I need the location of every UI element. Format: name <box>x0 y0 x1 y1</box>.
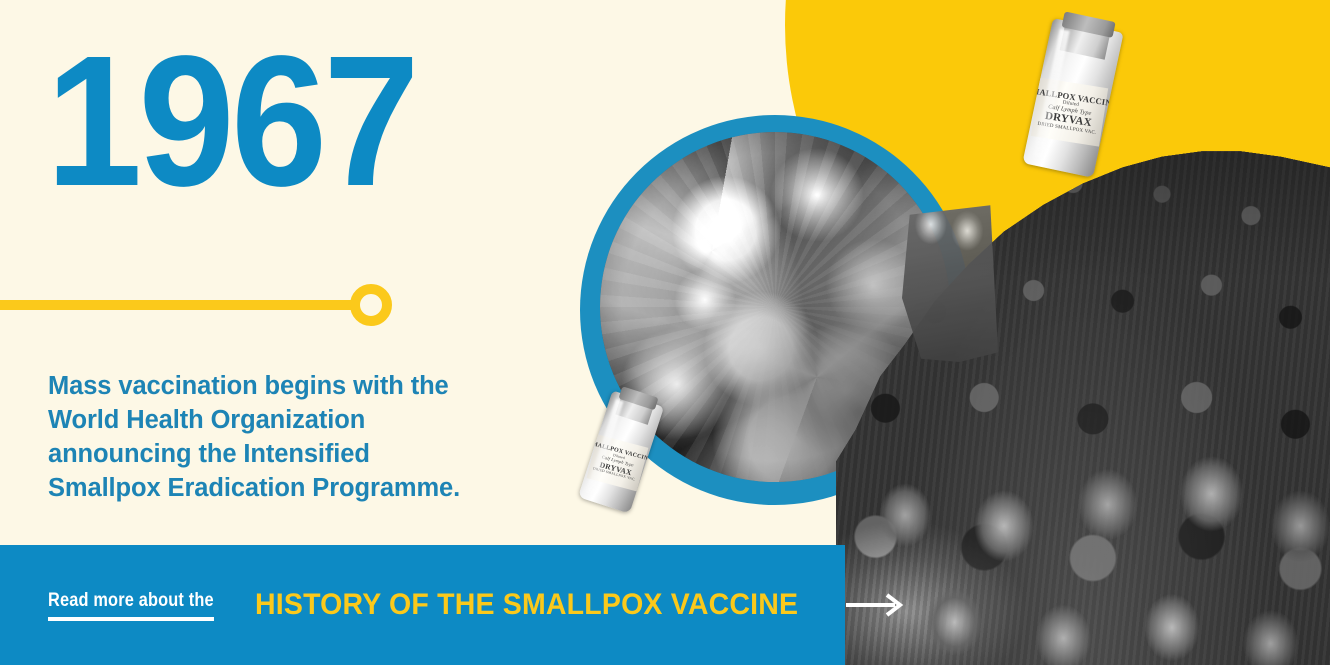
cta-main-label: HISTORY OF THE SMALLPOX VACCINE <box>255 588 798 622</box>
timeline-line <box>0 300 352 310</box>
arrow-right-icon <box>845 592 907 618</box>
timeline-graphic <box>0 294 400 314</box>
history-of-smallpox-vaccine-link[interactable]: Read more about the HISTORY OF THE SMALL… <box>48 588 907 622</box>
banner-1967: SMALLPOX VACCINE Diluted Calf Lymph Type… <box>0 0 1330 665</box>
timeline-marker-icon <box>350 284 392 326</box>
cta-bar: Read more about the HISTORY OF THE SMALL… <box>0 545 845 665</box>
cta-prefix-label: Read more about the <box>48 590 214 621</box>
crowd-photo <box>836 130 1330 665</box>
crowd-photo-vignette <box>836 130 1330 665</box>
year-heading: 1967 <box>46 34 416 211</box>
page-description: Mass vaccination begins with the World H… <box>48 370 478 506</box>
